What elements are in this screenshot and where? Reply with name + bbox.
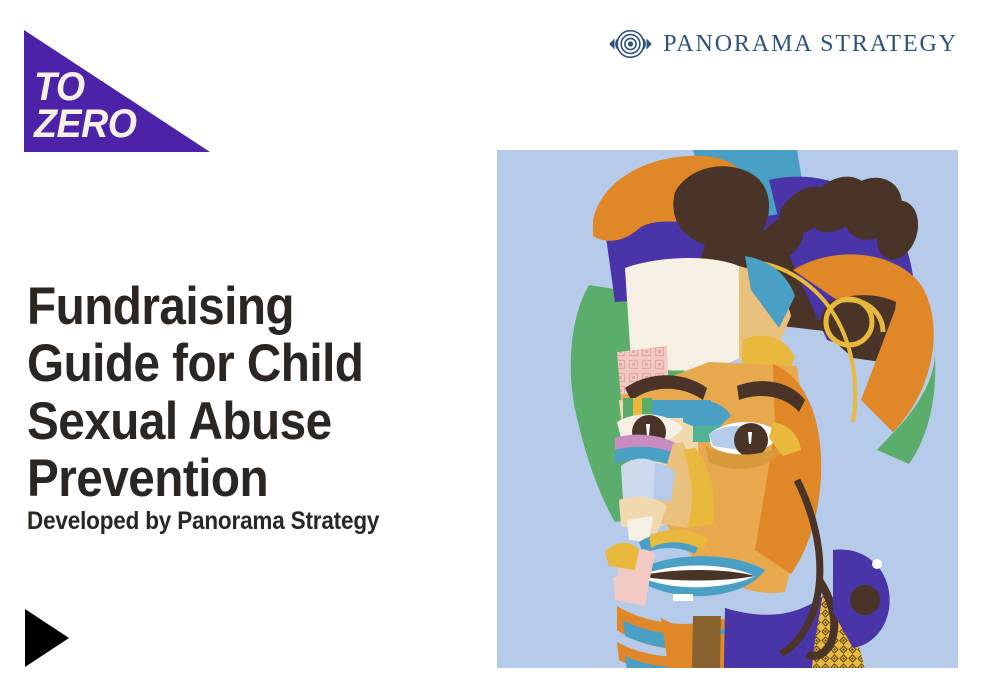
to-zero-wordmark: TO ZERO [34, 69, 137, 143]
panorama-strategy-logo: PANORAMA STRATEGY [608, 27, 958, 61]
cover-illustration [497, 150, 958, 668]
portrait-illustration-art [497, 150, 958, 668]
page-title: Fundraising Guide for Child Sexual Abuse… [27, 278, 414, 508]
panorama-lens-icon [608, 27, 653, 61]
subtitle-developed-by: Developed by Panorama Strategy [27, 507, 379, 536]
panorama-strategy-wordmark: PANORAMA STRATEGY [663, 31, 958, 58]
slide-cover: TO ZERO PANORAMA STRATEGY Fundraising Gu… [0, 0, 985, 688]
play-triangle-icon [25, 609, 70, 667]
